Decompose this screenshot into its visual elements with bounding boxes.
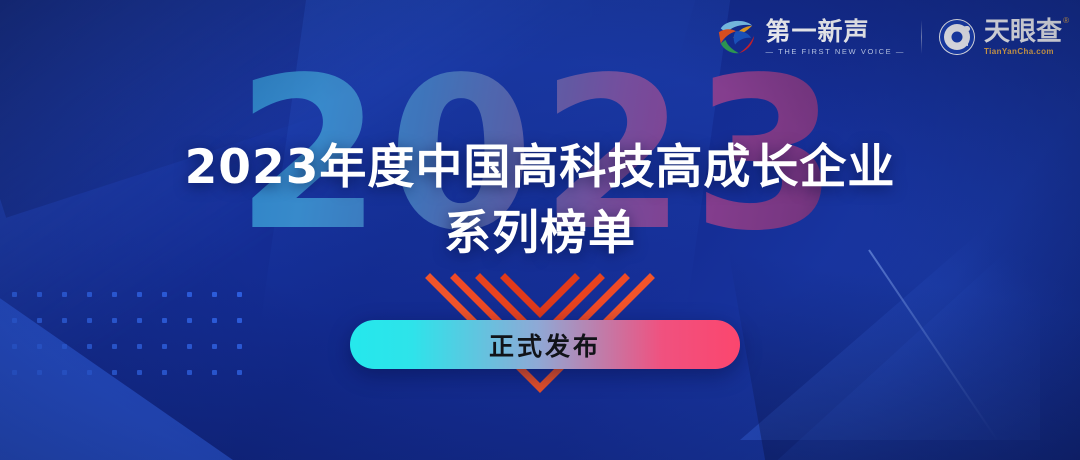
grid-dot — [137, 292, 142, 297]
first-new-voice-name: 第一新声 — [766, 19, 905, 44]
logo-tianyancha[interactable]: 天眼查 ® TianYanCha.com — [938, 18, 1062, 56]
grid-dot — [137, 370, 142, 375]
grid-dot — [62, 370, 67, 375]
grid-dot — [12, 292, 17, 297]
tianyancha-name: 天眼查 — [984, 19, 1062, 45]
grid-dot — [87, 344, 92, 349]
grid-dot — [12, 370, 17, 375]
title-line-2: 系列榜单 — [0, 206, 1080, 262]
grid-dot — [187, 344, 192, 349]
promo-banner: 2023 — [0, 0, 1080, 460]
grid-dot — [37, 318, 42, 323]
grid-dot — [87, 292, 92, 297]
tianyancha-trademark: ® — [1063, 17, 1069, 25]
header-logo-bar: 第一新声 — THE FIRST NEW VOICE — 天眼查 ® Tian — [715, 0, 1080, 74]
grid-dot — [187, 292, 192, 297]
grid-dot — [112, 370, 117, 375]
grid-dot — [162, 292, 167, 297]
grid-dot — [187, 318, 192, 323]
first-new-voice-swirl-mark — [715, 17, 757, 57]
grid-dot — [212, 318, 217, 323]
release-status-label: 正式发布 — [489, 327, 601, 363]
logo-divider — [921, 20, 922, 54]
grid-dot — [62, 292, 67, 297]
grid-dot — [62, 344, 67, 349]
grid-dot — [162, 344, 167, 349]
grid-dot — [87, 370, 92, 375]
grid-dot — [212, 370, 217, 375]
grid-dot — [37, 292, 42, 297]
grid-dot — [37, 344, 42, 349]
grid-dot — [237, 318, 242, 323]
grid-dot — [112, 292, 117, 297]
grid-dot — [12, 344, 17, 349]
banner-title: 2023年度中国高科技高成长企业 系列榜单 — [0, 140, 1080, 262]
grid-dot — [162, 318, 167, 323]
title-line-1: 2023年度中国高科技高成长企业 — [0, 140, 1080, 196]
grid-dot — [212, 292, 217, 297]
grid-dot — [237, 292, 242, 297]
grid-dot — [12, 318, 17, 323]
grid-dot — [137, 344, 142, 349]
tianyancha-eye-mark — [938, 18, 976, 56]
grid-dot — [212, 344, 217, 349]
grid-dot — [62, 318, 67, 323]
first-new-voice-tagline: — THE FIRST NEW VOICE — — [766, 48, 905, 56]
release-status-pill[interactable]: 正式发布 — [350, 320, 740, 369]
grid-dot — [187, 370, 192, 375]
grid-dot — [112, 318, 117, 323]
grid-dot — [162, 370, 167, 375]
grid-dot — [87, 318, 92, 323]
grid-dot — [112, 344, 117, 349]
grid-dot — [237, 370, 242, 375]
logo-first-new-voice[interactable]: 第一新声 — THE FIRST NEW VOICE — — [715, 17, 905, 57]
tianyancha-domain: TianYanCha.com — [984, 48, 1062, 56]
grid-dot — [237, 344, 242, 349]
grid-dot — [37, 370, 42, 375]
decorative-dot-grid — [12, 292, 262, 396]
grid-dot — [137, 318, 142, 323]
